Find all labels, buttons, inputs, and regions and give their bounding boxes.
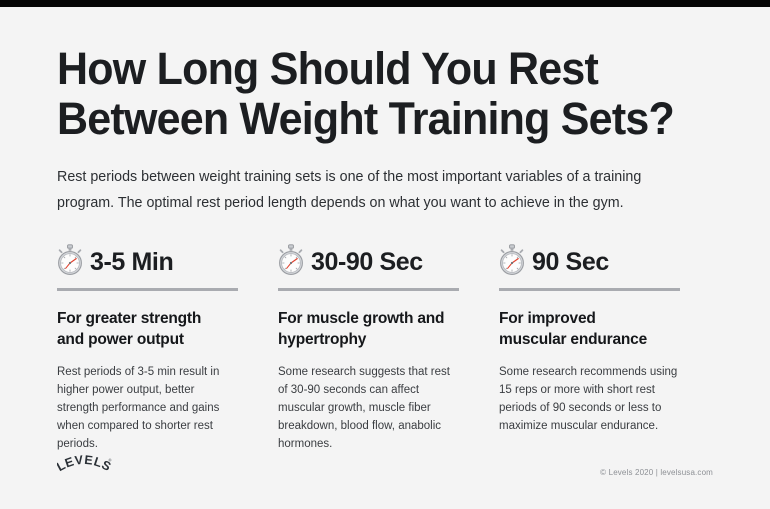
copyright-text: © Levels 2020 | levelsusa.com bbox=[600, 468, 713, 480]
column-subheading: For improved muscular endurance bbox=[499, 291, 680, 350]
column-card: 30-90 Sec For muscle growth and hypertro… bbox=[278, 243, 459, 453]
column-time-label: 90 Sec bbox=[532, 248, 609, 276]
registered-mark: ® bbox=[109, 458, 112, 463]
column-body-text: Some research recommends using 15 reps o… bbox=[499, 350, 680, 435]
infographic-poster: How Long Should You Rest Between Weight … bbox=[0, 0, 770, 509]
column-time-label: 30-90 Sec bbox=[311, 248, 423, 276]
column-header: 90 Sec bbox=[499, 243, 680, 281]
column-subheading: For muscle growth and hypertrophy bbox=[278, 291, 459, 350]
poster-content: How Long Should You Rest Between Weight … bbox=[0, 7, 770, 509]
levels-logo-text: LEVELS bbox=[57, 455, 113, 474]
column-header: 30-90 Sec bbox=[278, 243, 459, 281]
columns-container: 3-5 Min For greater strength and power o… bbox=[57, 216, 713, 453]
top-accent-bar bbox=[0, 0, 770, 7]
levels-logo: LEVELS ® bbox=[57, 455, 113, 480]
column-subheading: For greater strength and power output bbox=[57, 291, 238, 350]
column-header: 3-5 Min bbox=[57, 243, 238, 281]
column-body-text: Some research suggests that rest of 30-9… bbox=[278, 350, 459, 453]
column-card: 3-5 Min For greater strength and power o… bbox=[57, 243, 238, 453]
column-time-label: 3-5 Min bbox=[90, 248, 173, 276]
poster-footer: LEVELS ® © Levels 2020 | levelsusa.com bbox=[57, 455, 713, 480]
column-card: 90 Sec For improved muscular endurance S… bbox=[499, 243, 680, 453]
column-body-text: Rest periods of 3-5 min result in higher… bbox=[57, 350, 238, 453]
stopwatch-icon bbox=[499, 244, 525, 281]
intro-paragraph: Rest periods between weight training set… bbox=[57, 144, 699, 216]
stopwatch-icon bbox=[57, 244, 83, 281]
svg-text:LEVELS: LEVELS bbox=[57, 455, 113, 474]
stopwatch-icon bbox=[278, 244, 304, 281]
page-title: How Long Should You Rest Between Weight … bbox=[57, 7, 683, 144]
